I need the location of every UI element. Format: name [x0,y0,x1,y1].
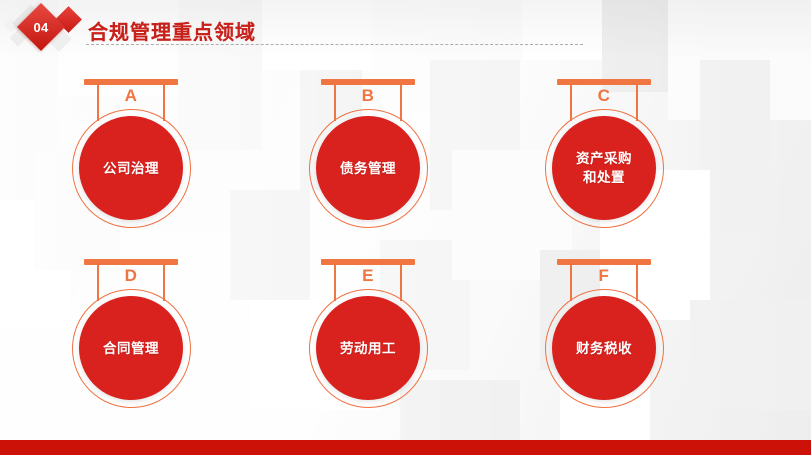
section-number: 04 [24,10,58,44]
flask-ball-b[interactable]: 债务管理 [316,116,420,220]
flask-label-b-line1: 债务管理 [340,161,396,176]
flask-item-f[interactable]: F 财务税收 [524,256,684,406]
header-diamond-cluster: 04 [6,2,92,54]
flask-ball-a[interactable]: 公司治理 [79,116,183,220]
flask-letter-e: E [288,266,448,286]
flask-label-e-line1: 劳动用工 [340,341,396,356]
flask-letter-a: A [51,86,211,106]
flask-item-b[interactable]: B 债务管理 [288,76,448,226]
flask-letter-c: C [524,86,684,106]
flask-item-c[interactable]: C 资产采购 和处置 [524,76,684,226]
slide-root: 04 合规管理重点领域 A 公司治理 B 债务管理 C 资产采购 [0,0,811,455]
flask-ball-f[interactable]: 财务税收 [552,296,656,400]
flask-label-a-line1: 公司治理 [103,161,159,176]
flask-label-c-line1: 资产采购 [576,151,632,166]
flask-label-c-line2: 和处置 [583,170,625,185]
flask-item-e[interactable]: E 劳动用工 [288,256,448,406]
flask-item-d[interactable]: D 合同管理 [51,256,211,406]
flask-ball-e[interactable]: 劳动用工 [316,296,420,400]
flask-letter-d: D [51,266,211,286]
title-divider [86,44,583,45]
flask-ball-c[interactable]: 资产采购 和处置 [552,116,656,220]
flask-letter-f: F [524,266,684,286]
flask-label-f-line1: 财务税收 [576,341,632,356]
footer-bar [0,440,811,455]
page-title: 合规管理重点领域 [88,16,256,45]
flask-item-a[interactable]: A 公司治理 [51,76,211,226]
flask-ball-d[interactable]: 合同管理 [79,296,183,400]
flask-label-d-line1: 合同管理 [103,341,159,356]
slide-header: 04 合规管理重点领域 [0,0,811,60]
flask-letter-b: B [288,86,448,106]
